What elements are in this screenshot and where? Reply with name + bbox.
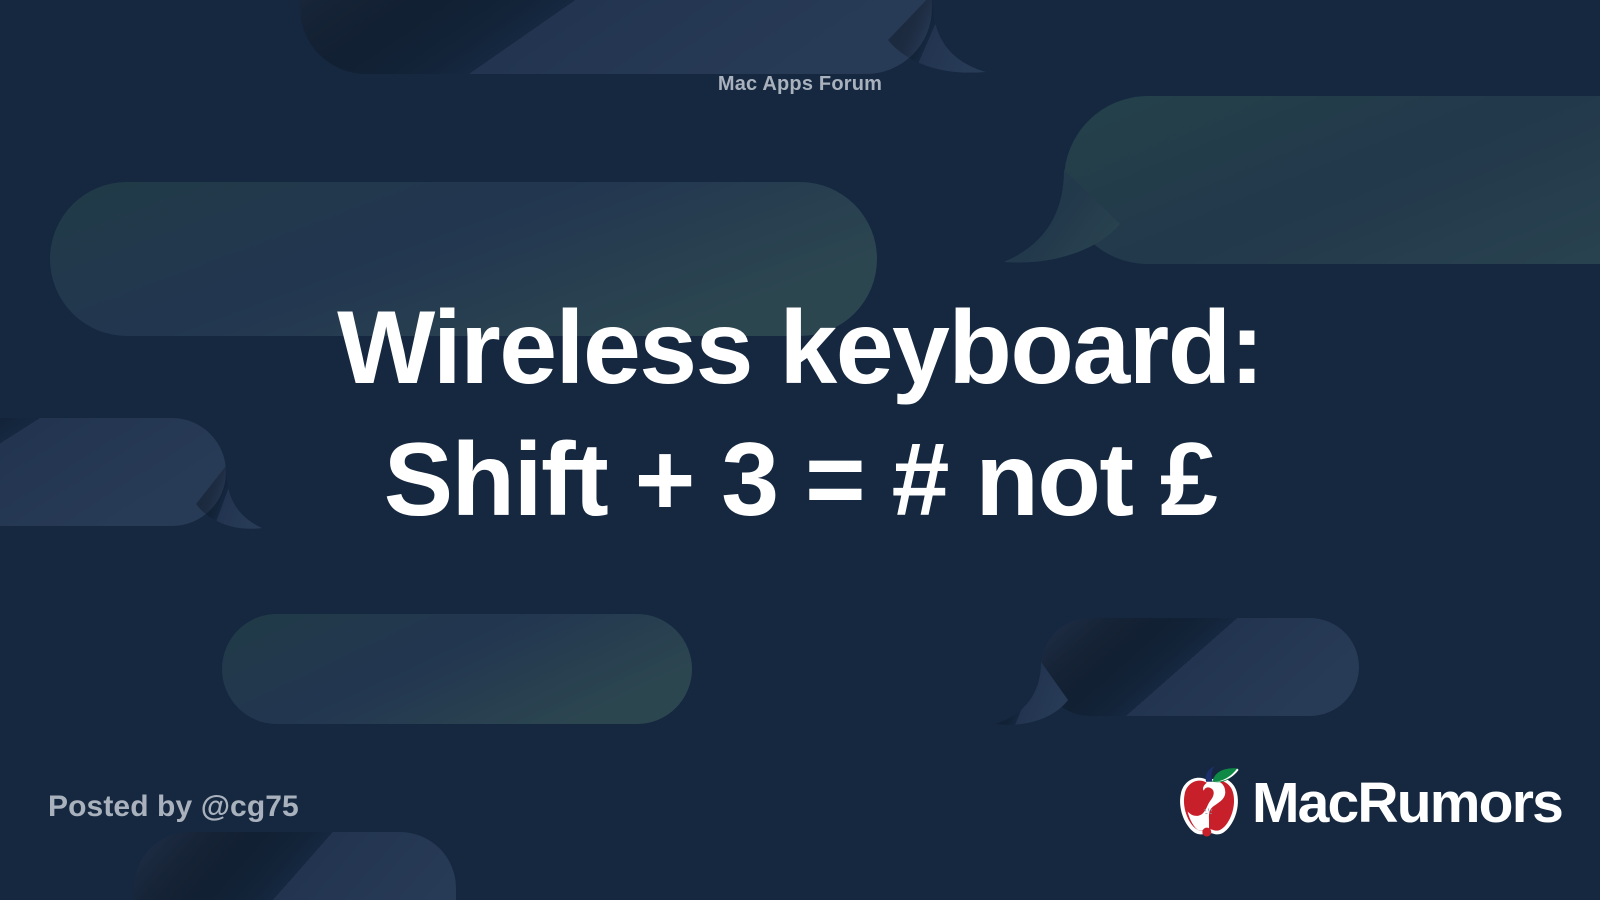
- share-card: Mac Apps Forum Wireless keyboard: Shift …: [0, 0, 1600, 900]
- card-content: Mac Apps Forum Wireless keyboard: Shift …: [0, 0, 1600, 900]
- posted-by-label: Posted by @cg75: [48, 792, 299, 822]
- title-line-2: Shift + 3 = # not £: [60, 414, 1540, 546]
- forum-name: Mac Apps Forum: [0, 74, 1600, 94]
- brand-wordmark: MacRumors: [1252, 775, 1562, 832]
- title-line-1: Wireless keyboard:: [60, 282, 1540, 414]
- brand-lockup: MacRumors: [1172, 764, 1562, 838]
- page-title: Wireless keyboard: Shift + 3 = # not £: [0, 282, 1600, 546]
- macrumors-apple-question-mark-icon: [1172, 764, 1246, 838]
